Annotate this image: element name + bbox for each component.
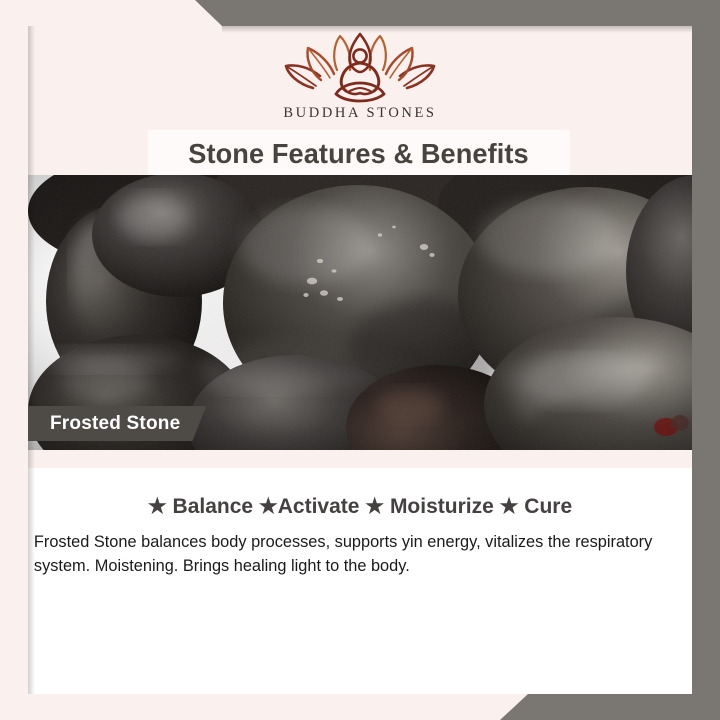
page-title: Stone Features & Benefits: [189, 138, 530, 170]
benefits-list: ★ Balance ★Activate ★ Moisturize ★ Cure: [28, 494, 692, 519]
brand-header: BUDDHA STONES: [28, 26, 692, 136]
brand-name: BUDDHA STONES: [283, 105, 436, 122]
lotus-meditation-icon: [280, 30, 440, 104]
content-card: BUDDHA STONES Stone Features & Benefits: [28, 26, 692, 694]
benefits-content: ★ Balance ★Activate ★ Moisturize ★ Cure …: [28, 468, 692, 694]
stone-description: Frosted Stone balances body processes, s…: [28, 530, 682, 577]
stone-label-text: Frosted Stone: [50, 413, 180, 435]
title-banner: Stone Features & Benefits: [148, 130, 570, 178]
brand-logo: BUDDHA STONES: [28, 30, 692, 122]
stone-label-badge: Frosted Stone: [28, 406, 206, 441]
cream-divider-strip: [28, 450, 692, 468]
